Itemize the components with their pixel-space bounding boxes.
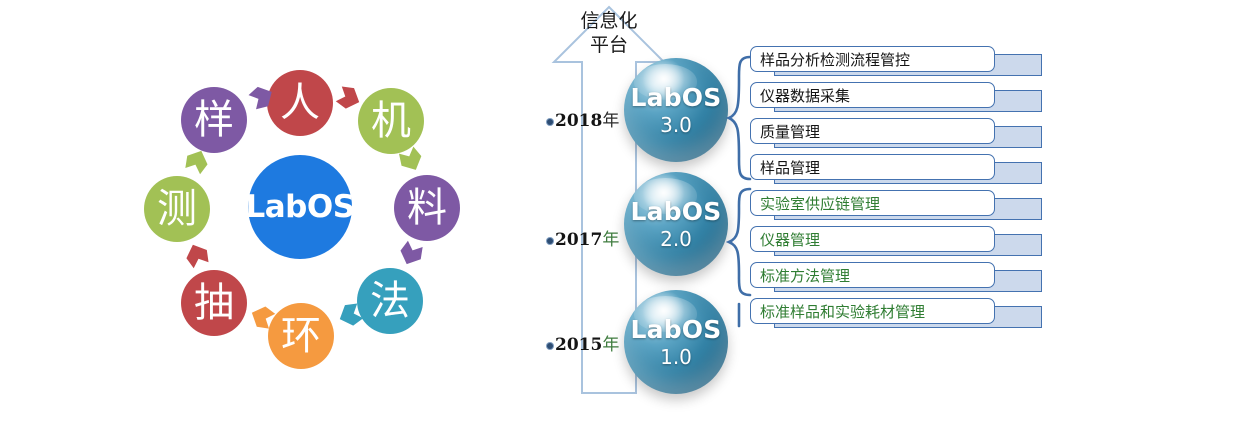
year-suffix: 年 <box>602 230 619 250</box>
feature-label: 标准样品和实验耗材管理 <box>760 301 925 322</box>
year-tick-2015: 2015年 <box>547 330 619 355</box>
quality-factors-wheel: LabOS 人 机 料 法 环 抽 测 样 <box>0 0 540 430</box>
feature-row-pill[interactable]: 质量管理 <box>750 118 995 144</box>
year-tick-2018: 2018年 <box>547 106 619 131</box>
wheel-node-label: 法 <box>370 281 410 321</box>
wheel-node-label: 测 <box>157 189 197 229</box>
feature-row-pill[interactable]: 实验室供应链管理 <box>750 190 995 216</box>
wheel-node-ce[interactable]: 测 <box>144 176 210 242</box>
year-number: 2015 <box>555 335 602 355</box>
wheel-node-label: 机 <box>371 101 411 141</box>
version-name: LabOS <box>631 197 722 226</box>
arrow-title-line1: 信息化 <box>554 10 664 34</box>
wheel-chevron-icon <box>181 238 213 271</box>
version-sphere-1-0[interactable]: LabOS 1.0 <box>624 290 728 394</box>
wheel-node-ren[interactable]: 人 <box>267 70 333 136</box>
version-name: LabOS <box>631 315 722 344</box>
feature-label: 仪器管理 <box>760 229 820 250</box>
wheel-node-liao[interactable]: 料 <box>394 175 460 241</box>
version-name: LabOS <box>631 83 722 112</box>
feature-label: 样品管理 <box>760 157 820 178</box>
year-bullet-icon <box>547 343 553 349</box>
version-number: 3.0 <box>660 113 692 137</box>
feature-label: 实验室供应链管理 <box>760 193 880 214</box>
feature-label: 标准方法管理 <box>760 265 850 286</box>
year-number: 2017 <box>555 230 602 250</box>
arrow-title: 信息化 平台 <box>554 10 664 58</box>
feature-row-pill[interactable]: 标准方法管理 <box>750 262 995 288</box>
wheel-node-label: 抽 <box>194 283 234 323</box>
version-sphere-2-0[interactable]: LabOS 2.0 <box>624 172 728 276</box>
brace-group-2-0 <box>726 186 752 298</box>
wheel-node-label: 样 <box>194 100 234 140</box>
brace-group-3-0 <box>726 54 752 182</box>
wheel-node-label: 人 <box>280 83 320 123</box>
year-tick-2017: 2017年 <box>547 225 619 250</box>
wheel-chevron-icon <box>395 237 427 270</box>
wheel-node-chou[interactable]: 抽 <box>181 270 247 336</box>
feature-row-pill[interactable]: 仪器数据采集 <box>750 82 995 108</box>
year-bullet-icon <box>547 238 553 244</box>
year-suffix: 年 <box>602 335 619 355</box>
brace-group-1-0 <box>726 302 752 328</box>
feature-row-pill[interactable]: 样品分析检测流程管控 <box>750 46 995 72</box>
version-number: 2.0 <box>660 227 692 251</box>
feature-row-pill[interactable]: 仪器管理 <box>750 226 995 252</box>
feature-row-pill[interactable]: 样品管理 <box>750 154 995 180</box>
wheel-node-huan[interactable]: 环 <box>268 303 334 369</box>
year-bullet-icon <box>547 119 553 125</box>
labos-roadmap: 信息化 平台 2018年 2017年 2015年 LabOS 3.0 LabOS… <box>540 0 1242 430</box>
feature-label: 质量管理 <box>760 121 820 142</box>
wheel-center-label: LabOS <box>245 192 354 223</box>
year-suffix: 年 <box>602 111 619 131</box>
version-sphere-3-0[interactable]: LabOS 3.0 <box>624 58 728 162</box>
feature-label: 样品分析检测流程管控 <box>760 49 910 70</box>
year-number: 2018 <box>555 111 602 131</box>
wheel-node-fa[interactable]: 法 <box>357 268 423 334</box>
wheel-node-label: 环 <box>281 316 321 356</box>
feature-row-pill[interactable]: 标准样品和实验耗材管理 <box>750 298 995 324</box>
wheel-node-yang[interactable]: 样 <box>181 87 247 153</box>
version-number: 1.0 <box>660 345 692 369</box>
wheel-center-node[interactable]: LabOS <box>248 155 352 259</box>
wheel-node-label: 料 <box>407 188 447 228</box>
feature-label: 仪器数据采集 <box>760 85 850 106</box>
arrow-title-line2: 平台 <box>554 34 664 58</box>
